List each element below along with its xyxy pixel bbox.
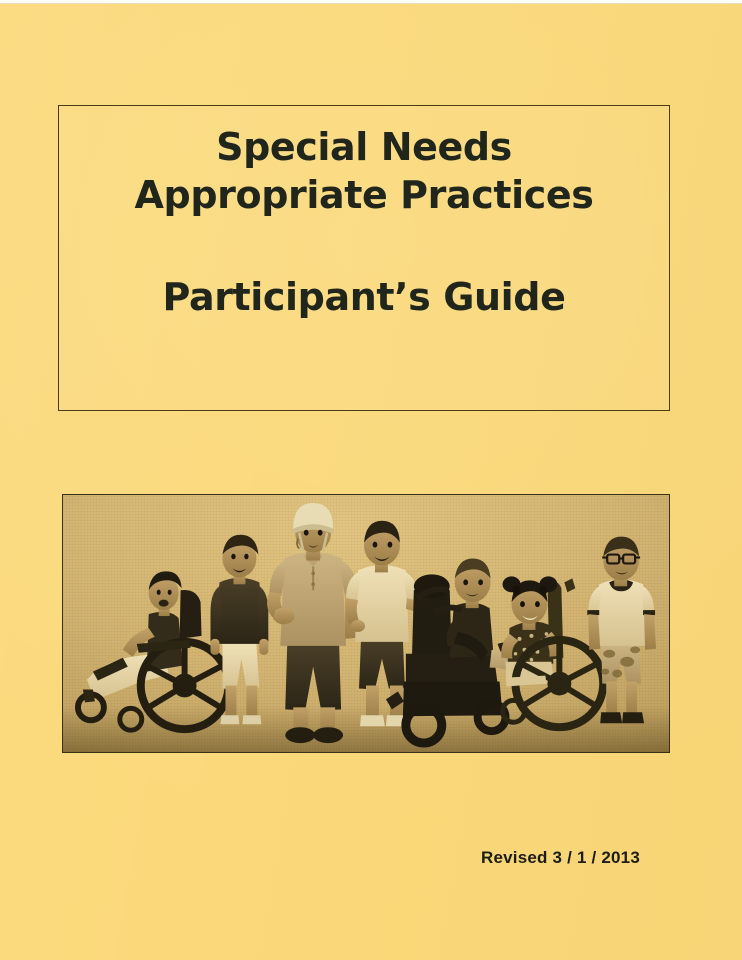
subtitle-participants-guide: Participant’s Guide	[59, 278, 669, 316]
photo-figures-illustration	[63, 495, 669, 752]
photo-canvas	[63, 495, 669, 752]
figure-girl-pigtails-wheelchair	[501, 576, 603, 727]
cover-photograph	[62, 494, 670, 753]
title-line-1: Special Needs	[59, 128, 669, 166]
figure-boy-dark-shirt	[211, 535, 269, 725]
title-box: Special Needs Appropriate Practices Part…	[58, 105, 670, 411]
revision-date: Revised 3 / 1 / 2013	[0, 848, 640, 868]
title-text-stack: Special Needs Appropriate Practices Part…	[59, 128, 669, 316]
title-line-2: Appropriate Practices	[59, 176, 669, 214]
scanner-edge-strip	[0, 0, 742, 4]
document-page: Special Needs Appropriate Practices Part…	[0, 0, 742, 960]
